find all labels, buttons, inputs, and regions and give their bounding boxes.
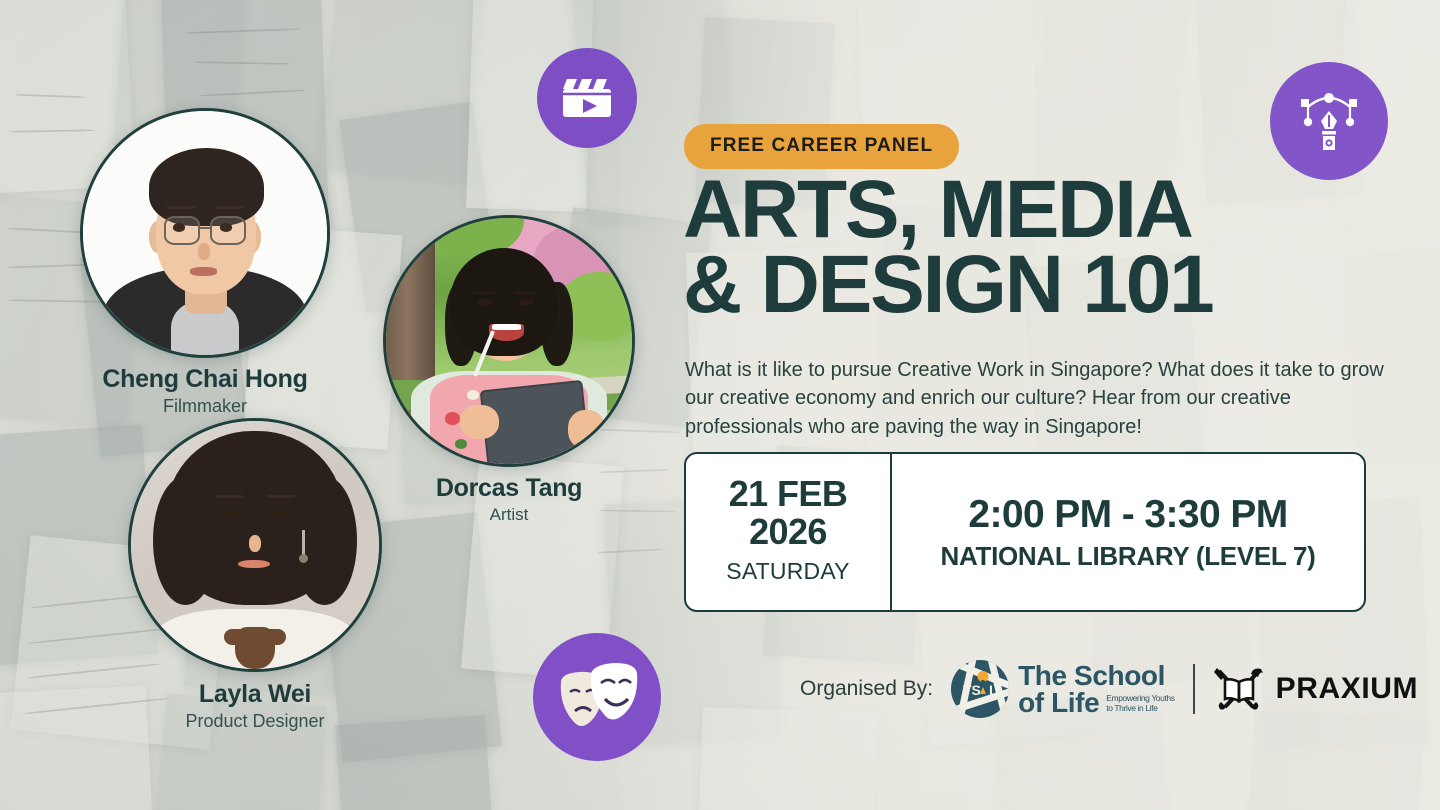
- praxium-wordmark: PRAXIUM: [1276, 672, 1419, 706]
- svg-text:TS: TS: [963, 682, 981, 698]
- tsol-line-2-row: of Life Empowering Youths to Thrive in L…: [1018, 689, 1175, 716]
- speaker-1-portrait: [83, 111, 327, 355]
- logo-divider: [1193, 664, 1195, 714]
- event-time-cell: 2:00 PM - 3:30 PM NATIONAL LIBRARY (LEVE…: [892, 454, 1364, 610]
- praxium-logo: PRAXIUM: [1213, 665, 1419, 713]
- speaker-2-name: Dorcas Tang: [383, 475, 635, 503]
- speaker-1-role: Filmmaker: [80, 396, 330, 418]
- svg-text:L: L: [989, 682, 998, 698]
- praxium-book-tools-icon: [1213, 665, 1265, 713]
- speaker-card-3: Layla Wei Product Designer: [128, 418, 382, 732]
- pen-tool-icon: [1270, 62, 1388, 180]
- speaker-card-1: Cheng Chai Hong Filmmaker: [80, 108, 330, 417]
- organised-by-label: Organised By:: [800, 677, 933, 701]
- event-details-panel: 21 FEB 2026 SATURDAY 2:00 PM - 3:30 PM N…: [684, 452, 1366, 612]
- speaker-3-portrait: [131, 421, 379, 669]
- the-school-of-life-logo: TS L The School of Life Empowering Youth…: [951, 660, 1175, 718]
- event-date-line-1: 21 FEB: [729, 473, 847, 514]
- theatre-masks-icon: [533, 633, 661, 761]
- event-venue: NATIONAL LIBRARY (LEVEL 7): [940, 541, 1315, 572]
- tsol-line-1: The School: [1018, 662, 1175, 689]
- tsol-tagline-line-1: Empowering Youths: [1106, 693, 1174, 703]
- event-poster: Cheng Chai Hong Filmmaker: [0, 0, 1440, 810]
- event-date-cell: 21 FEB 2026 SATURDAY: [686, 454, 892, 610]
- speaker-2-portrait: [386, 218, 632, 464]
- headline-line-2: & DESIGN 101: [683, 247, 1383, 322]
- event-date: 21 FEB 2026: [729, 475, 847, 551]
- page-title: ARTS, MEDIA & DESIGN 101: [683, 172, 1383, 323]
- tsol-circle-mark: TS L: [951, 660, 1009, 718]
- tsol-tagline: Empowering Youths to Thrive in Life: [1106, 693, 1174, 716]
- tsol-tagline-line-2: to Thrive in Life: [1106, 703, 1157, 713]
- speaker-2-role: Artist: [383, 505, 635, 525]
- speaker-3-avatar: [128, 418, 382, 672]
- speaker-3-role: Product Designer: [128, 711, 382, 733]
- tsol-line-2: of Life: [1018, 689, 1099, 716]
- speaker-3-name: Layla Wei: [128, 681, 382, 709]
- event-description: What is it like to pursue Creative Work …: [685, 356, 1385, 441]
- free-career-panel-badge: FREE CAREER PANEL: [684, 124, 959, 169]
- event-day-of-week: SATURDAY: [726, 558, 849, 585]
- speaker-1-avatar: [80, 108, 330, 358]
- film-clapperboard-icon: [537, 48, 637, 148]
- tsol-wordmark: The School of Life Empowering Youths to …: [1018, 662, 1175, 717]
- event-date-line-2: 2026: [749, 511, 827, 552]
- speaker-card-2: Dorcas Tang Artist: [383, 215, 635, 525]
- speaker-2-avatar: [383, 215, 635, 467]
- speaker-1-name: Cheng Chai Hong: [80, 366, 330, 394]
- event-time: 2:00 PM - 3:30 PM: [968, 493, 1287, 537]
- organisers-row: Organised By: TS L The School of Life: [800, 660, 1418, 718]
